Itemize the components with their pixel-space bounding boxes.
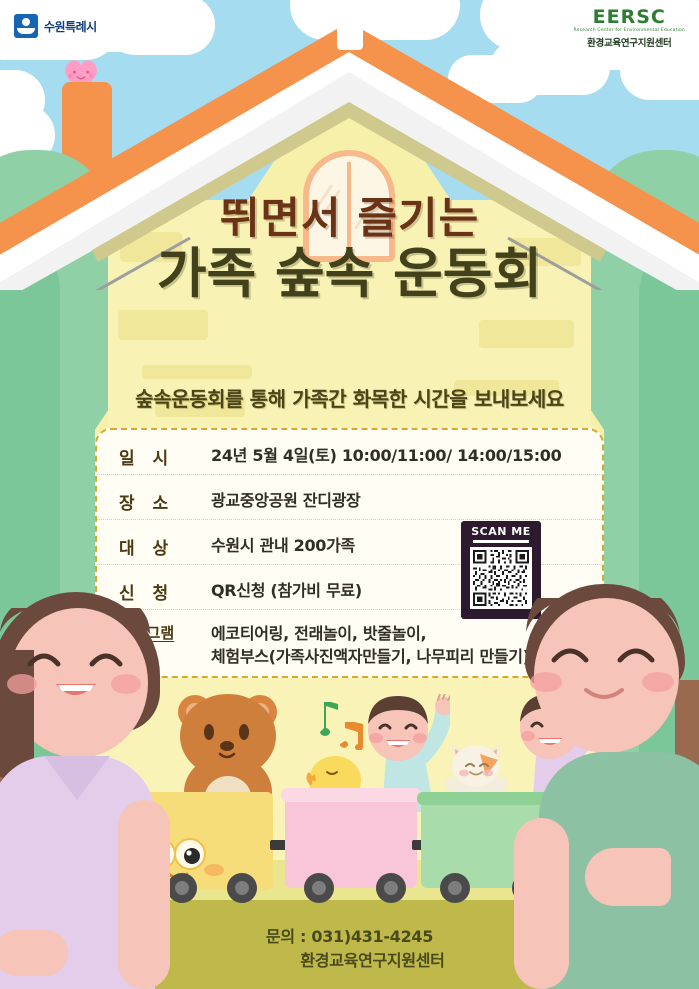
footer-organization: 환경교육연구지원센터 bbox=[0, 949, 699, 973]
train-car-pink-top bbox=[281, 788, 421, 802]
mother-face bbox=[0, 608, 160, 768]
info-value: 24년 5월 4일(토) 10:00/11:00/ 14:00/15:00 bbox=[211, 444, 561, 467]
info-label: 신 청 bbox=[119, 579, 211, 604]
eersc-korean-name: 환경교육연구지원센터 bbox=[574, 35, 685, 49]
eersc-logo: EERSC Research Center for Environmental … bbox=[574, 8, 685, 49]
suwon-city-logo: 수원특례시 bbox=[14, 14, 97, 38]
train-car-green-top bbox=[417, 792, 559, 805]
info-value-line-1: 에코티어링, 전래놀이, 밧줄놀이, bbox=[211, 622, 530, 645]
eersc-acronym: EERSC bbox=[574, 8, 685, 27]
footer-phone: 문의 : 031)431-4245 bbox=[0, 925, 699, 949]
poster-canvas: 뛰면서 즐기는 가족 숲속 운동회 숲속운동회를 통해 가족간 화목한 시간을 … bbox=[0, 0, 699, 989]
wall-brick bbox=[118, 310, 208, 340]
train-wheel bbox=[227, 873, 257, 903]
info-value: QR신청 (참가비 무료) bbox=[211, 579, 362, 602]
qr-scan-label: SCAN ME bbox=[471, 525, 531, 538]
father-hand bbox=[585, 848, 671, 906]
info-value-line-2: 체험부스(가족사진액자만들기, 나무피리 만들기) bbox=[211, 645, 530, 668]
suwon-city-name: 수원특례시 bbox=[44, 18, 97, 35]
title-line-2: 가족 숲속 운동회 bbox=[0, 244, 699, 303]
eersc-tagline: Research Center for Environmental Educat… bbox=[574, 28, 685, 33]
music-note-icon bbox=[308, 702, 342, 738]
qr-divider bbox=[473, 540, 529, 543]
title-line-1: 뛰면서 즐기는 bbox=[0, 196, 699, 242]
suwon-city-emblem-icon bbox=[14, 14, 38, 38]
info-value-group: 에코티어링, 전래놀이, 밧줄놀이, 체험부스(가족사진액자만들기, 나무피리 … bbox=[211, 622, 530, 668]
footer-contact: 문의 : 031)431-4245 환경교육연구지원센터 bbox=[0, 925, 699, 973]
poster-title: 뛰면서 즐기는 가족 숲속 운동회 bbox=[0, 196, 699, 304]
info-row-date: 일 시 24년 5월 4일(토) 10:00/11:00/ 14:00/15:0… bbox=[97, 430, 602, 475]
info-label: 장 소 bbox=[119, 489, 211, 514]
train-wheel bbox=[440, 873, 470, 903]
wall-brick bbox=[479, 320, 574, 348]
info-label: 대 상 bbox=[119, 534, 211, 559]
info-row-location: 장 소 광교중앙공원 잔디광장 bbox=[97, 475, 602, 520]
train-wheel bbox=[167, 873, 197, 903]
father-face bbox=[520, 598, 685, 763]
train-wheel bbox=[376, 873, 406, 903]
train-wheel bbox=[304, 873, 334, 903]
wall-brick bbox=[142, 365, 252, 379]
train-car-pink bbox=[285, 788, 417, 888]
poster-subtitle: 숲속운동회를 통해 가족간 화목한 시간을 보내보세요 bbox=[0, 383, 699, 412]
info-value: 수원시 관내 200가족 bbox=[211, 534, 355, 557]
info-label: 일 시 bbox=[119, 444, 211, 469]
info-value: 광교중앙공원 잔디광장 bbox=[211, 489, 360, 512]
